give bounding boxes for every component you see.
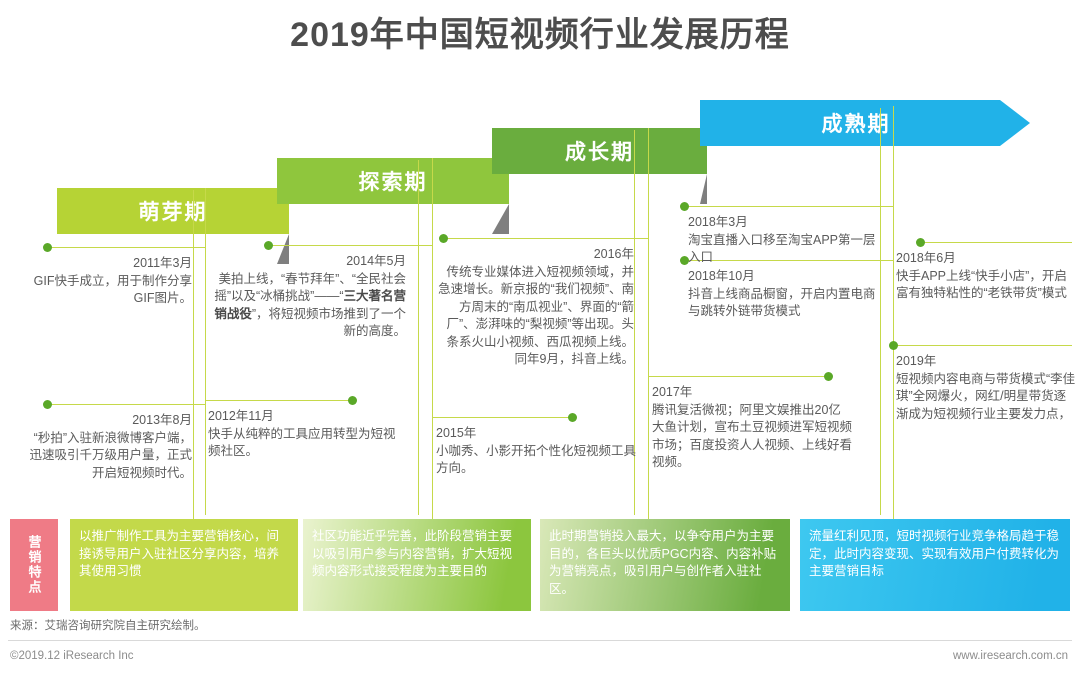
marketing-characteristics-row: 营销特点 以推广制作工具为主要营销核心，间接诱导用户入驻社区分享内容，培养其使用… [0,519,1080,611]
timeline-connector-10 [920,242,1072,243]
website-link: www.iresearch.com.cn [953,650,1068,662]
timeline-event-date: 2013年8月 [22,412,192,430]
timeline-divider-4 [432,158,433,515]
timeline-event-11: 2019年短视频内容电商与带货模式“李佳琪”全网爆火，网红/明星带货逐渐成为短视… [896,353,1076,423]
timeline-event-text: 腾讯复活微视；阿里文娱推出20亿大鱼计划，宣布土豆视频进军短视频市场；百度投资人… [652,403,852,470]
marketing-box-4: 流量红利见顶，短时视频行业竞争格局趋于稳定，此时内容变现、实现有效用户付费转化为… [800,519,1070,611]
timeline-event-7: 2018年3月淘宝直播入口移至淘宝APP第一层入口 [688,214,878,267]
timeline-event-text: 短视频内容电商与带货模式“李佳琪”全网爆火，网红/明星带货逐渐成为短视频行业主要… [896,372,1075,421]
copyright-text: ©2019.12 iResearch Inc [10,650,134,662]
timeline-event-date: 2012年11月 [208,408,398,426]
timeline-divider-1 [193,190,194,515]
timeline-divider-7 [880,108,881,515]
timeline-dot-9 [824,372,833,381]
timeline-event-text: “秒拍”入驻新浪微博客户端，迅速吸引千万级用户量，正式开启短视频时代。 [29,431,192,480]
marketing-box-2: 社区功能近乎完善，此阶段营销主要以吸引用户参与内容营销，扩大短视频内容形式接受程… [303,519,531,611]
page-title: 2019年中国短视频行业发展历程 [0,8,1080,62]
timeline-event-2: 2013年8月“秒拍”入驻新浪微博客户端，迅速吸引千万级用户量，正式开启短视频时… [22,412,192,482]
timeline-connector-3 [205,400,352,401]
timeline-divider-2 [205,188,206,515]
timeline-connector-7 [684,206,893,207]
timeline-event-text: 快手APP上线“快手小店”，开启富有独特粘性的“老铁带货”模式 [896,269,1067,301]
timeline-dot-7 [680,202,689,211]
timeline-event-text: 淘宝直播入口移至淘宝APP第一层入口 [688,233,876,265]
timeline-event-date: 2018年3月 [688,214,878,232]
timeline-connector-11 [893,345,1072,346]
timeline-event-text: 美拍上线，“春节拜年”、“全民社会摇”以及“冰桶挑战”——“三大著名营销战役”，… [214,272,406,339]
marketing-label: 营销特点 [10,519,58,611]
timeline-event-9: 2017年腾讯复活微视；阿里文娱推出20亿大鱼计划，宣布土豆视频进军短视频市场；… [652,384,852,472]
timeline-event-5: 2016年传统专业媒体进入短视频领域，并急速增长。新京报的“我们视频”、南方周末… [438,246,634,369]
timeline-dot-2 [43,400,52,409]
timeline-dot-10 [916,238,925,247]
timeline-dot-4 [264,241,273,250]
marketing-tick-2 [432,511,433,519]
marketing-box-3: 此时期营销投入最大，以争夺用户为主要目的，各巨头以优质PGC内容、内容补贴为营销… [540,519,790,611]
timeline-dot-6 [568,413,577,422]
timeline-divider-3 [418,160,419,515]
timeline-dot-11 [889,341,898,350]
timeline-event-text: 传统专业媒体进入短视频领域，并急速增长。新京报的“我们视频”、南方周末的“南瓜视… [438,265,634,367]
timeline-event-date: 2014年5月 [208,253,406,271]
timeline-event-3: 2012年11月快手从纯粹的工具应用转型为短视频社区。 [208,408,398,461]
timeline-area: 2011年3月GIF快手成立，用于制作分享GIF图片。2013年8月“秒拍”入驻… [0,110,1080,515]
timeline-event-date: 2016年 [438,246,634,264]
timeline-connector-5 [443,238,648,239]
timeline-connector-4 [268,245,432,246]
marketing-tick-1 [193,511,194,519]
timeline-dot-1 [43,243,52,252]
timeline-divider-6 [648,128,649,515]
timeline-event-text: GIF快手成立，用于制作分享GIF图片。 [34,274,192,306]
timeline-event-10: 2018年6月快手APP上线“快手小店”，开启富有独特粘性的“老铁带货”模式 [896,250,1076,303]
timeline-dot-5 [439,234,448,243]
timeline-dot-3 [348,396,357,405]
timeline-event-text: 快手从纯粹的工具应用转型为短视频社区。 [208,427,396,459]
timeline-event-1: 2011年3月GIF快手成立，用于制作分享GIF图片。 [22,255,192,308]
timeline-event-text: 抖音上线商品橱窗，开启内置电商与跳转外链带货模式 [688,287,876,319]
marketing-tick-3 [648,511,649,519]
timeline-event-date: 2011年3月 [22,255,192,273]
timeline-event-date: 2017年 [652,384,852,402]
timeline-event-date: 2018年10月 [688,268,878,286]
timeline-connector-2 [47,404,205,405]
timeline-event-4: 2014年5月美拍上线，“春节拜年”、“全民社会摇”以及“冰桶挑战”——“三大著… [208,253,406,341]
timeline-event-date: 2015年 [436,425,636,443]
marketing-box-1: 以推广制作工具为主要营销核心，间接诱导用户入驻社区分享内容，培养其使用习惯 [70,519,298,611]
timeline-divider-8 [893,106,894,515]
footer-divider [8,640,1072,641]
source-note: 来源：艾瑞咨询研究院自主研究绘制。 [10,617,206,633]
timeline-event-date: 2018年6月 [896,250,1076,268]
timeline-event-date: 2019年 [896,353,1076,371]
marketing-tick-4 [893,511,894,519]
timeline-connector-9 [648,376,828,377]
timeline-event-6: 2015年小咖秀、小影开拓个性化短视频工具方向。 [436,425,636,478]
timeline-connector-1 [47,247,205,248]
timeline-event-8: 2018年10月抖音上线商品橱窗，开启内置电商与跳转外链带货模式 [688,268,878,321]
timeline-event-text: 小咖秀、小影开拓个性化短视频工具方向。 [436,444,636,476]
timeline-connector-6 [432,417,572,418]
